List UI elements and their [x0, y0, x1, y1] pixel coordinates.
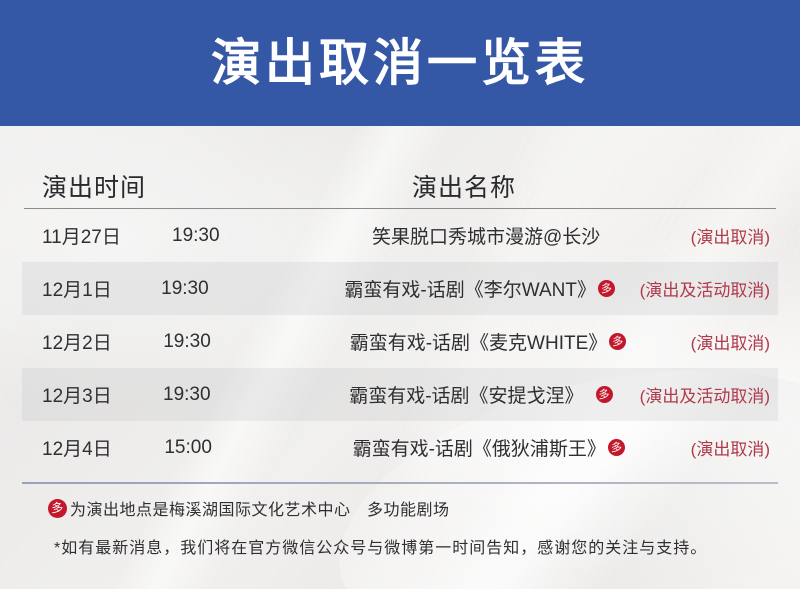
venue-footnote-text: 为演出地点是梅溪湖国际文化艺术中心 多功能剧场: [70, 496, 450, 520]
venue-marker-icon: 多: [598, 280, 615, 297]
table-row: 11月27日 19:30 笑果脱口秀城市漫游@长沙 (演出取消): [22, 209, 778, 262]
cell-name: 霸蛮有戏-话剧《李尔WANT》 多: [344, 275, 617, 302]
status-badge: (演出取消): [627, 435, 778, 460]
cell-date: 12月3日: [22, 381, 163, 408]
performance-title: 霸蛮有戏-话剧《李尔WANT》: [344, 275, 596, 302]
cell-name: 霸蛮有戏-话剧《俄狄浦斯王》 多: [353, 434, 627, 461]
venue-marker-icon: 多: [596, 386, 613, 403]
page-title: 演出取消一览表: [211, 38, 589, 88]
cell-name: 笑果脱口秀城市漫游@长沙: [372, 222, 618, 249]
venue-marker-icon: 多: [48, 499, 67, 518]
cell-name: 霸蛮有戏-话剧《麦克WHITE》 多: [350, 328, 629, 355]
title-banner: 演出取消一览表: [0, 0, 800, 126]
venue-marker-icon: 多: [609, 333, 626, 350]
cell-time: 19:30: [163, 331, 350, 353]
poster-page: 演出取消一览表 演出时间 演出名称 11月27日 19:30 笑果脱口秀城市漫游…: [0, 0, 800, 589]
cell-time: 19:30: [161, 278, 344, 300]
performance-title: 霸蛮有戏-话剧《安提戈涅》: [349, 381, 583, 408]
cell-time: 15:00: [164, 437, 352, 459]
cell-time: 19:30: [163, 384, 349, 406]
column-header-time: 演出时间: [22, 168, 412, 204]
status-badge: (演出取消): [628, 329, 778, 354]
table-header-row: 演出时间 演出名称: [22, 126, 778, 208]
cancellation-table: 演出时间 演出名称 11月27日 19:30 笑果脱口秀城市漫游@长沙 (演出取…: [0, 126, 800, 474]
table-row: 12月2日 19:30 霸蛮有戏-话剧《麦克WHITE》 多 (演出取消): [22, 315, 778, 368]
venue-footnote: 多 为演出地点是梅溪湖国际文化艺术中心 多功能剧场: [22, 496, 778, 520]
column-header-name: 演出名称: [412, 168, 516, 204]
performance-title: 霸蛮有戏-话剧《俄狄浦斯王》: [353, 434, 606, 461]
cell-date: 12月2日: [22, 328, 163, 355]
cell-time: 19:30: [172, 225, 372, 247]
table-row: 12月4日 15:00 霸蛮有戏-话剧《俄狄浦斯王》 多 (演出取消): [22, 421, 778, 474]
cell-date: 12月1日: [22, 275, 161, 302]
status-badge: (演出取消): [618, 223, 778, 248]
cell-name: 霸蛮有戏-话剧《安提戈涅》 多: [349, 381, 614, 408]
status-badge: (演出及活动取消): [617, 276, 778, 301]
table-row: 12月3日 19:30 霸蛮有戏-话剧《安提戈涅》 多 (演出及活动取消): [22, 368, 778, 421]
table-row: 12月1日 19:30 霸蛮有戏-话剧《李尔WANT》 多 (演出及活动取消): [22, 262, 778, 315]
status-badge: (演出及活动取消): [615, 382, 778, 407]
update-footnote: *如有最新消息，我们将在官方微信公众号与微博第一时间告知，感谢您的关注与支持。: [22, 534, 778, 558]
performance-title: 笑果脱口秀城市漫游@长沙: [372, 222, 600, 249]
performance-title: 霸蛮有戏-话剧《麦克WHITE》: [350, 328, 608, 355]
footnotes: 多 为演出地点是梅溪湖国际文化艺术中心 多功能剧场 *如有最新消息，我们将在官方…: [0, 484, 800, 558]
cell-date: 12月4日: [22, 434, 164, 461]
venue-marker-icon: 多: [608, 439, 625, 456]
cell-date: 11月27日: [22, 222, 172, 249]
